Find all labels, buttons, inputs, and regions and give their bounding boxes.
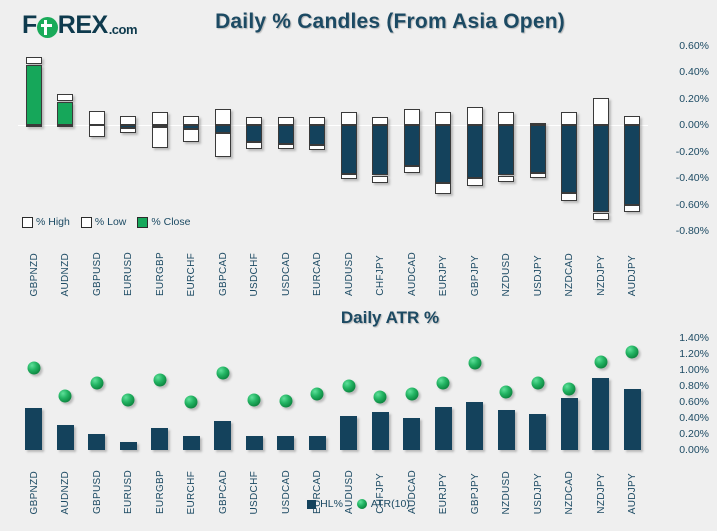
candle-high-block xyxy=(278,117,294,125)
candle-low-block xyxy=(435,183,451,194)
x-axis-tick-label: CHFJPY xyxy=(375,255,386,296)
atr-marker-icon xyxy=(531,376,544,389)
x-axis-tick-label: NZDJPY xyxy=(596,255,607,296)
candle-low-block xyxy=(372,176,388,184)
candles-legend: % High% Low% Close xyxy=(22,216,190,228)
candle-low-block xyxy=(57,125,73,127)
x-axis-tick-label: EURCAD xyxy=(312,252,323,296)
candle-body xyxy=(341,125,357,174)
atr-hl-bar xyxy=(561,398,578,450)
euro-circle-icon xyxy=(37,17,58,38)
candle-high-block xyxy=(246,117,262,125)
candle-low-block xyxy=(498,176,514,183)
atr-hl-bar xyxy=(498,410,515,450)
atr-hl-bar xyxy=(214,421,231,450)
atr-hl-bar xyxy=(120,442,137,450)
candle-low-block xyxy=(593,213,609,221)
y-axis-tick-label: -0.20% xyxy=(676,146,709,158)
x-axis-tick-label: NZDCAD xyxy=(564,253,575,296)
candle-body xyxy=(435,125,451,183)
candle-low-block xyxy=(530,173,546,178)
forex-com-logo: FREX.com xyxy=(22,13,137,37)
atr-marker-icon xyxy=(437,376,450,389)
atr-marker-icon xyxy=(563,383,576,396)
y-axis-tick-label: -0.60% xyxy=(676,199,709,211)
atr-hl-bar xyxy=(529,414,546,450)
x-axis-tick-label: EURUSD xyxy=(123,252,134,296)
atr-marker-icon xyxy=(216,367,229,380)
candle-high-block xyxy=(341,112,357,125)
legend-item: % Low xyxy=(81,216,127,228)
candle xyxy=(593,46,609,231)
legend-swatch-white-icon xyxy=(22,217,33,228)
atr-hl-bar xyxy=(151,428,168,450)
legend-label: % Low xyxy=(95,216,127,228)
atr-hl-bar xyxy=(340,416,357,450)
candle-low-block xyxy=(278,144,294,149)
candle xyxy=(183,46,199,231)
candle xyxy=(57,46,73,231)
candle-body xyxy=(498,125,514,175)
candle-low-block xyxy=(246,142,262,149)
candle-high-block xyxy=(120,116,136,125)
candle-high-block xyxy=(372,117,388,125)
legend-item: ATR(10) xyxy=(357,498,410,510)
legend-item: % Close xyxy=(137,216,190,228)
candle-low-block xyxy=(341,174,357,179)
atr-marker-icon xyxy=(311,388,324,401)
candle-high-block xyxy=(309,117,325,125)
x-axis-tick-label: EURGBP xyxy=(155,252,166,296)
candle xyxy=(372,46,388,231)
candle xyxy=(467,46,483,231)
candle-low-block xyxy=(183,129,199,142)
x-axis-tick-label: GBPCAD xyxy=(218,252,229,296)
atr-marker-icon xyxy=(342,380,355,393)
atr-y-axis: 1.40%1.20%1.00%0.80%0.60%0.40%0.20%0.00% xyxy=(648,338,717,450)
candle-body xyxy=(593,125,609,212)
candle-high-block xyxy=(183,116,199,125)
candle xyxy=(278,46,294,231)
candle xyxy=(404,46,420,231)
candle xyxy=(624,46,640,231)
candle-low-block xyxy=(467,178,483,186)
logo-suffix: .com xyxy=(109,22,137,37)
x-axis-tick-label: GBPJPY xyxy=(470,255,481,296)
candle-high-block xyxy=(152,112,168,125)
candle xyxy=(152,46,168,231)
candle xyxy=(246,46,262,231)
atr-marker-icon xyxy=(90,376,103,389)
candle xyxy=(435,46,451,231)
x-axis-tick-label: GBPNZD xyxy=(29,253,40,296)
legend-label: % High xyxy=(36,216,70,228)
candle-high-block xyxy=(561,112,577,125)
atr-marker-icon xyxy=(626,346,639,359)
atr-hl-bar xyxy=(277,436,294,450)
candle xyxy=(120,46,136,231)
zero-line xyxy=(18,125,648,126)
atr-hl-bar xyxy=(466,402,483,450)
atr-marker-icon xyxy=(279,395,292,408)
candle-low-block xyxy=(215,133,231,157)
atr-hl-bar xyxy=(88,434,105,450)
candle-low-block xyxy=(309,145,325,150)
atr-hl-bar xyxy=(592,378,609,450)
x-axis-tick-label: GBPUSD xyxy=(92,252,103,296)
x-axis-tick-label: NZDUSD xyxy=(501,253,512,296)
legend-label: % Close xyxy=(151,216,190,228)
atr-marker-icon xyxy=(405,388,418,401)
legend-swatch-hl-icon xyxy=(307,500,316,509)
atr-hl-bar xyxy=(25,408,42,450)
x-axis-tick-label: AUDJPY xyxy=(627,255,638,296)
candle-low-block xyxy=(26,125,42,127)
candle-high-block xyxy=(624,116,640,125)
daily-atr-chart: 1.40%1.20%1.00%0.80%0.60%0.40%0.20%0.00%… xyxy=(0,330,717,531)
candle xyxy=(89,46,105,231)
x-axis-tick-label: USDCHF xyxy=(249,253,260,296)
candle-body xyxy=(278,125,294,144)
y-axis-tick-label: 1.00% xyxy=(679,364,709,376)
candle-low-block xyxy=(152,127,168,148)
legend-label: ATR(10) xyxy=(371,498,410,510)
y-axis-tick-label: 1.20% xyxy=(679,348,709,360)
candle-high-block xyxy=(467,107,483,126)
candle-high-block xyxy=(593,98,609,126)
atr-marker-icon xyxy=(59,390,72,403)
y-axis-tick-label: 0.40% xyxy=(679,412,709,424)
x-axis-tick-label: AUDCAD xyxy=(407,252,418,296)
logo-text-rex: REX xyxy=(58,11,108,40)
candle-high-block xyxy=(26,57,42,65)
atr-hl-bar xyxy=(57,425,74,450)
x-axis-tick-label: AUDNZD xyxy=(60,253,71,296)
candle-low-block xyxy=(624,205,640,213)
y-axis-tick-label: 0.00% xyxy=(679,119,709,131)
x-axis-tick-label: USDJPY xyxy=(533,255,544,296)
atr-hl-bar xyxy=(309,436,326,450)
atr-marker-icon xyxy=(27,362,40,375)
atr-hl-bar xyxy=(372,412,389,450)
candle-body xyxy=(57,102,73,126)
atr-marker-icon xyxy=(248,393,261,406)
candle-high-block xyxy=(498,112,514,125)
atr-hl-bar xyxy=(246,436,263,450)
candle xyxy=(498,46,514,231)
x-axis-tick-label: EURJPY xyxy=(438,255,449,296)
atr-chart-title: Daily ATR % xyxy=(200,308,580,328)
candle-body xyxy=(404,125,420,166)
candle-high-block xyxy=(435,112,451,125)
candle xyxy=(561,46,577,231)
candles-plot-area xyxy=(18,46,648,231)
candle xyxy=(309,46,325,231)
y-axis-tick-label: 0.80% xyxy=(679,380,709,392)
y-axis-tick-label: 0.60% xyxy=(679,396,709,408)
legend-item: HL% xyxy=(307,498,343,510)
atr-marker-icon xyxy=(500,386,513,399)
legend-swatch-white-icon xyxy=(81,217,92,228)
candle-body xyxy=(372,125,388,175)
candles-y-axis: 0.60%0.40%0.20%0.00%-0.20%-0.40%-0.60%-0… xyxy=(648,44,717,234)
y-axis-tick-label: -0.80% xyxy=(676,225,709,237)
y-axis-tick-label: 0.20% xyxy=(679,93,709,105)
legend-swatch-close-icon xyxy=(137,217,148,228)
y-axis-tick-label: -0.40% xyxy=(676,172,709,184)
y-axis-tick-label: 0.60% xyxy=(679,40,709,52)
candle-low-block xyxy=(404,166,420,173)
atr-hl-bar xyxy=(624,389,641,450)
atr-marker-icon xyxy=(185,396,198,409)
candle-low-block xyxy=(89,125,105,137)
atr-marker-icon xyxy=(153,373,166,386)
x-axis-tick-label: USDCAD xyxy=(281,252,292,296)
atr-marker-icon xyxy=(122,394,135,407)
candle-body xyxy=(624,125,640,204)
atr-marker-icon xyxy=(374,391,387,404)
candle-body xyxy=(467,125,483,178)
y-axis-tick-label: 0.40% xyxy=(679,66,709,78)
legend-label: HL% xyxy=(320,498,343,510)
candle-body xyxy=(215,125,231,133)
candle-high-block xyxy=(404,109,420,125)
x-axis-tick-label: AUDUSD xyxy=(344,252,355,296)
candle-body xyxy=(561,125,577,192)
candle xyxy=(530,46,546,231)
x-axis-tick-label: EURCHF xyxy=(186,253,197,296)
candle-body xyxy=(26,65,42,126)
atr-hl-bar xyxy=(435,407,452,450)
candle-high-block xyxy=(215,109,231,125)
y-axis-tick-label: 1.40% xyxy=(679,332,709,344)
candle-high-block xyxy=(89,111,105,126)
candle-low-block xyxy=(120,128,136,133)
chart-header: FREX.com Daily % Candles (From Asia Open… xyxy=(0,0,717,44)
atr-marker-icon xyxy=(468,356,481,369)
atr-legend: HL%ATR(10) xyxy=(0,498,717,510)
candles-x-axis: GBPNZDAUDNZDGBPUSDEURUSDEURGBPEURCHFGBPC… xyxy=(18,234,648,296)
candle xyxy=(26,46,42,231)
candle xyxy=(341,46,357,231)
candle-high-block xyxy=(57,94,73,102)
candle-body xyxy=(309,125,325,145)
candle xyxy=(215,46,231,231)
atr-plot-area xyxy=(18,338,648,450)
y-axis-tick-label: 0.00% xyxy=(679,444,709,456)
page-title: Daily % Candles (From Asia Open) xyxy=(200,10,580,34)
legend-swatch-atr-icon xyxy=(357,499,367,509)
atr-marker-icon xyxy=(594,356,607,369)
atr-hl-bar xyxy=(403,418,420,450)
candle-body xyxy=(246,125,262,142)
logo-text-f: F xyxy=(22,11,37,40)
legend-item: % High xyxy=(22,216,70,228)
atr-hl-bar xyxy=(183,436,200,450)
y-axis-tick-label: 0.20% xyxy=(679,428,709,440)
daily-percent-candles-chart: 0.60%0.40%0.20%0.00%-0.20%-0.40%-0.60%-0… xyxy=(0,44,717,296)
candle-body xyxy=(530,125,546,173)
candle-low-block xyxy=(561,193,577,201)
